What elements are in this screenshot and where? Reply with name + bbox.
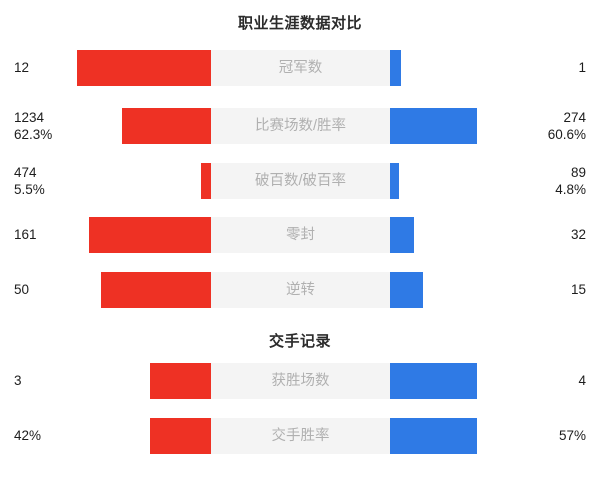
left-player-value: 161: [14, 226, 37, 243]
left-player-value: 42%: [14, 427, 41, 444]
stat-row-label: 破百数/破百率: [211, 174, 390, 189]
left-player-primary-value: 50: [14, 282, 29, 297]
left-player-primary-value: 12: [14, 60, 29, 75]
stat-row-label: 比赛场数/胜率: [211, 119, 390, 134]
stat-row-label: 获胜场数: [211, 374, 390, 389]
left-player-primary-value: 3: [14, 373, 22, 388]
bar-left-player: [89, 217, 211, 253]
left-player-secondary-value: 5.5%: [14, 181, 45, 198]
left-player-value: 3: [14, 372, 22, 389]
section-title-career: 职业生涯数据对比: [0, 12, 600, 33]
left-player-primary-value: 1234: [14, 110, 44, 125]
bar-left-player: [150, 418, 211, 454]
bar-left-player: [77, 50, 211, 86]
stat-row-label: 零封: [211, 228, 390, 243]
right-player-value: 32: [571, 226, 586, 243]
bar-right-player: [390, 108, 477, 144]
right-player-value: 894.8%: [555, 164, 586, 198]
bar-right-player: [390, 217, 414, 253]
bar-right-player: [390, 163, 399, 199]
section-title-head-to-head: 交手记录: [0, 330, 600, 351]
stat-row-label: 冠军数: [211, 61, 390, 76]
stat-row: 获胜场数34: [0, 363, 600, 399]
stat-row: 比赛场数/胜率123462.3%27460.6%: [0, 108, 600, 144]
bar-right-player: [390, 50, 401, 86]
stat-row: 零封16132: [0, 217, 600, 253]
right-player-primary-value: 274: [563, 110, 586, 125]
right-player-primary-value: 15: [571, 282, 586, 297]
bar-left-player: [150, 363, 211, 399]
right-player-value: 27460.6%: [548, 109, 586, 143]
bar-left-player: [201, 163, 211, 199]
left-player-value: 12: [14, 59, 29, 76]
right-player-primary-value: 4: [578, 373, 586, 388]
right-player-primary-value: 1: [578, 60, 586, 75]
right-player-value: 1: [578, 59, 586, 76]
left-player-value: 123462.3%: [14, 109, 52, 143]
bar-right-player: [390, 363, 477, 399]
right-player-primary-value: 89: [571, 165, 586, 180]
bar-right-player: [390, 272, 423, 308]
left-player-value: 4745.5%: [14, 164, 45, 198]
stats-comparison-chart: 职业生涯数据对比冠军数121比赛场数/胜率123462.3%27460.6%破百…: [0, 0, 600, 480]
left-player-value: 50: [14, 281, 29, 298]
left-player-primary-value: 474: [14, 165, 37, 180]
left-player-secondary-value: 62.3%: [14, 126, 52, 143]
stat-row: 逆转5015: [0, 272, 600, 308]
right-player-secondary-value: 60.6%: [548, 126, 586, 143]
stat-row: 冠军数121: [0, 50, 600, 86]
right-player-value: 57%: [559, 427, 586, 444]
bar-right-player: [390, 418, 477, 454]
right-player-primary-value: 57%: [559, 428, 586, 443]
stat-row-label: 交手胜率: [211, 429, 390, 444]
right-player-primary-value: 32: [571, 227, 586, 242]
right-player-value: 4: [578, 372, 586, 389]
bar-left-player: [101, 272, 211, 308]
stat-row: 交手胜率42%57%: [0, 418, 600, 454]
stat-row-label: 逆转: [211, 283, 390, 298]
left-player-primary-value: 161: [14, 227, 37, 242]
stat-row: 破百数/破百率4745.5%894.8%: [0, 163, 600, 199]
left-player-primary-value: 42%: [14, 428, 41, 443]
right-player-secondary-value: 4.8%: [555, 181, 586, 198]
bar-left-player: [122, 108, 211, 144]
right-player-value: 15: [571, 281, 586, 298]
